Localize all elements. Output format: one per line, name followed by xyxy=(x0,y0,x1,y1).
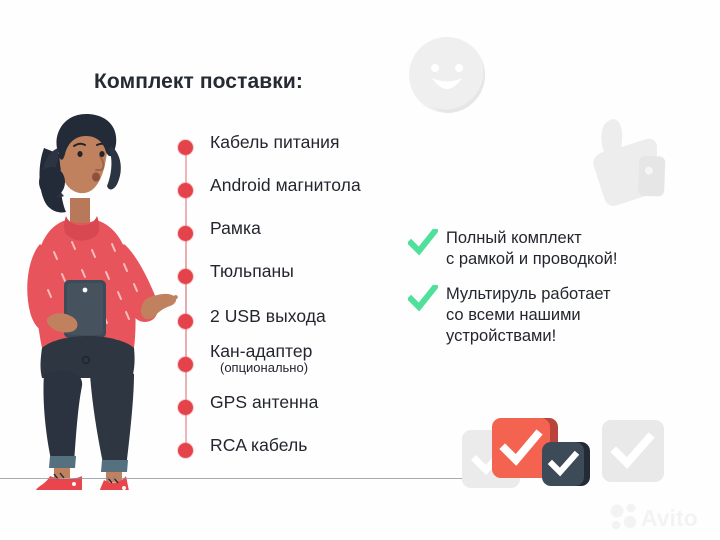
ground-line xyxy=(0,478,462,479)
thumbs-up-icon xyxy=(578,112,670,212)
list-item-label: Android магнитола xyxy=(210,175,361,196)
page-title: Комплект поставки: xyxy=(94,70,303,94)
bullet-dot-icon xyxy=(178,400,193,415)
bullet-dot-icon xyxy=(178,140,193,155)
bullet-dot-icon xyxy=(178,314,193,329)
bullet-dot-icon xyxy=(178,269,193,284)
list-item-label: 2 USB выхода xyxy=(210,306,326,327)
feature-text: Полный комплект с рамкой и проводкой! xyxy=(446,228,708,270)
checkbox-card-gray-right xyxy=(602,420,664,482)
checkbox-cards-illustration xyxy=(462,412,682,492)
smiley-face-icon xyxy=(408,36,486,114)
woman-with-tablet-illustration xyxy=(8,112,178,490)
bullet-dot-icon xyxy=(178,226,193,241)
list-item-label: GPS антенна xyxy=(210,392,318,413)
checkbox-card-dark xyxy=(542,442,584,486)
avito-wordmark: Avito xyxy=(641,505,698,531)
bullet-dot-icon xyxy=(178,443,193,458)
list-item-label: Рамка xyxy=(210,218,261,239)
list-item-sublabel: (опционально) xyxy=(220,360,308,375)
bullet-dot-icon xyxy=(178,183,193,198)
avito-logo-icon xyxy=(611,504,637,530)
avito-watermark: Avito xyxy=(608,500,712,534)
features-list: Полный комплект с рамкой и проводкой! Му… xyxy=(408,228,708,361)
list-item-label: Кабель питания xyxy=(210,132,340,153)
feature-item: Полный комплект с рамкой и проводкой! xyxy=(408,228,708,270)
feature-text: Мультируль работает со всеми нашими устр… xyxy=(446,284,708,347)
list-item-label: Кан-адаптер xyxy=(210,341,312,362)
feature-item: Мультируль работает со всеми нашими устр… xyxy=(408,284,708,347)
package-contents-list: Кабель питания Android магнитола Рамка Т… xyxy=(176,136,446,466)
green-check-icon xyxy=(408,229,438,257)
bullet-dot-icon xyxy=(178,357,193,372)
list-item-label: Тюльпаны xyxy=(210,261,294,282)
promo-image-canvas: Комплект поставки: xyxy=(0,0,720,540)
green-check-icon xyxy=(408,285,438,313)
list-item-label: RCA кабель xyxy=(210,435,307,456)
